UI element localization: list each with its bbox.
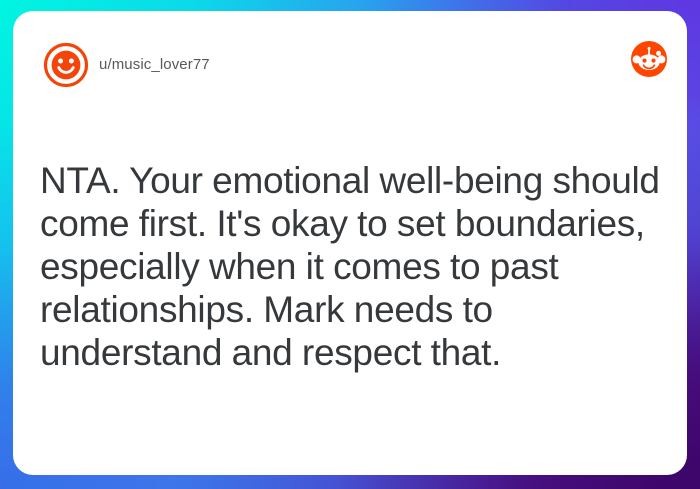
comment-card: u/music_lover77 — [13, 11, 687, 475]
card-header: u/music_lover77 — [13, 11, 687, 103]
reddit-snoo-icon[interactable] — [631, 41, 667, 77]
comment-text: NTA. Your emotional well-being should co… — [40, 159, 665, 374]
username-label: u/music_lover77 — [99, 42, 210, 88]
smiley-face-avatar-icon[interactable] — [43, 42, 89, 88]
reddit-comment-card-screenshot: u/music_lover77 — [0, 0, 700, 489]
